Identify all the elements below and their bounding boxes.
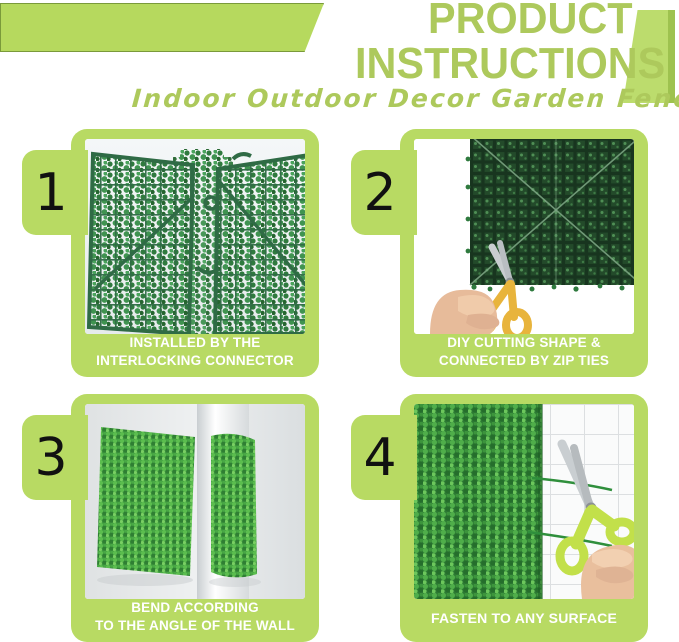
step-number-2: 2 [351,150,409,235]
steps-grid: 1 [0,118,679,637]
step-card-1[interactable]: INSTALLED BY THE INTERLOCKING CONNECTOR [71,129,319,377]
interlocking-connector-illustration [85,139,305,334]
step-number-1: 1 [22,150,80,235]
step-number-badge-3: 3 [22,415,88,500]
step-photo-4 [414,404,634,599]
step-card-3[interactable]: BEND ACCORDING TO THE ANGLE OF THE WALL [71,394,319,642]
step-number-badge-2: 2 [351,150,417,235]
header: PRODUCT INSTRUCTIONS Indoor Outdoor Deco… [0,0,679,120]
step-number-3: 3 [22,415,80,500]
step-caption-2: DIY CUTTING SHAPE & CONNECTED BY ZIP TIE… [406,334,642,370]
step-caption-3: BEND ACCORDING TO THE ANGLE OF THE WALL [77,599,313,635]
step-caption-2-line-1: DIY CUTTING SHAPE & [406,334,642,352]
step-caption-3-line-1: BEND ACCORDING [77,599,313,617]
step-photo-3 [85,404,305,599]
diy-cutting-scissors-illustration [414,139,634,334]
bend-to-wall-angle-illustration [85,404,305,599]
step-number-badge-1: 1 [22,150,88,235]
header-left-banner [0,3,324,52]
step-photo-2 [414,139,634,334]
step-caption-4-line-1: FASTEN TO ANY SURFACE [406,609,642,628]
page-subtitle: Indoor Outdoor Decor Garden Fence [131,84,679,113]
step-number-badge-4: 4 [351,415,417,500]
step-caption-1-line-1: INSTALLED BY THE [77,334,313,352]
step-caption-3-line-2: TO THE ANGLE OF THE WALL [77,617,313,635]
page-title-line-1: PRODUCT [428,0,633,41]
step-card-4[interactable]: FASTEN TO ANY SURFACE [400,394,648,642]
step-photo-1 [85,139,305,334]
step-number-4: 4 [351,415,409,500]
fasten-to-surface-illustration [414,404,634,599]
step-card-2[interactable]: DIY CUTTING SHAPE & CONNECTED BY ZIP TIE… [400,129,648,377]
step-caption-2-line-2: CONNECTED BY ZIP TIES [406,352,642,370]
step-caption-1: INSTALLED BY THE INTERLOCKING CONNECTOR [77,334,313,370]
step-caption-4: FASTEN TO ANY SURFACE [406,609,642,628]
page-title-line-2: INSTRUCTIONS [355,42,665,86]
step-caption-1-line-2: INTERLOCKING CONNECTOR [77,352,313,370]
